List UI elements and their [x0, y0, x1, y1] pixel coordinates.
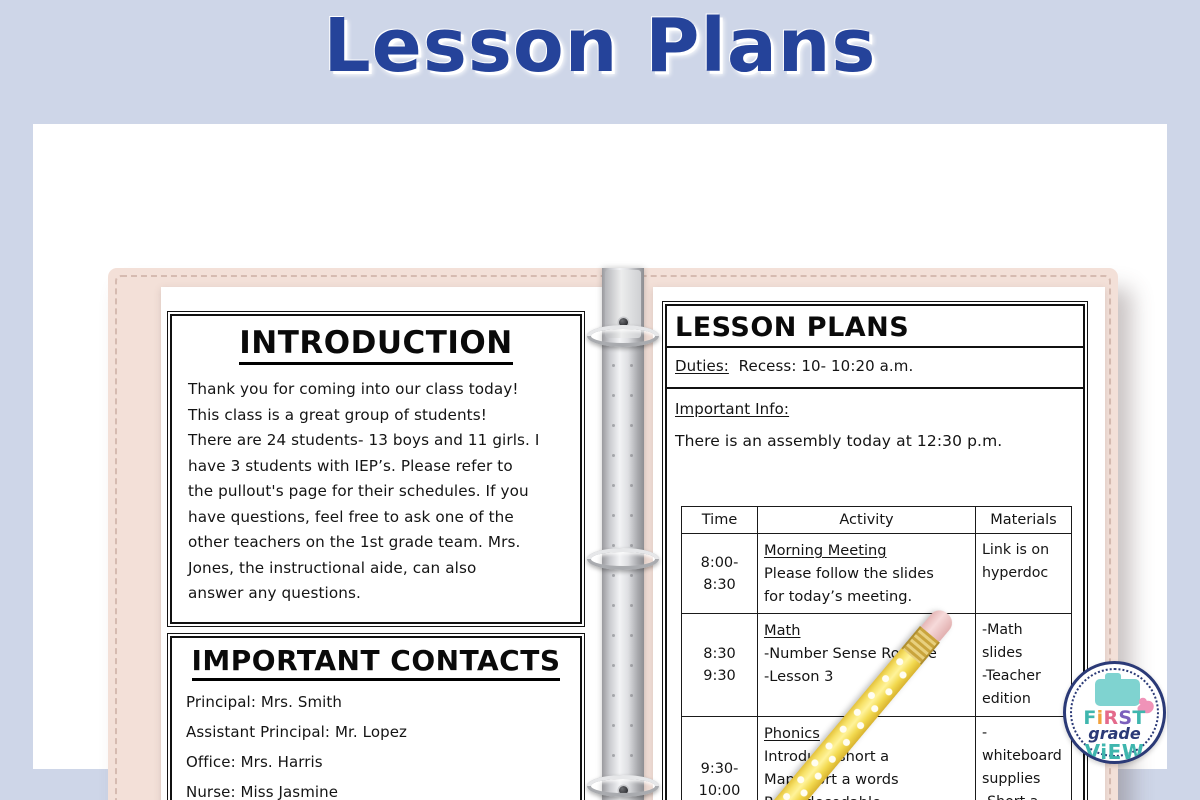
introduction-line: have 3 students with IEP’s. Please refer… [188, 454, 566, 480]
spine-dot [630, 394, 633, 397]
contact-row: Principal: Mrs. Smith [186, 687, 566, 717]
binder-ring-icon [587, 325, 659, 347]
introduction-heading: INTRODUCTION [239, 325, 512, 365]
column-header-activity: Activity [758, 507, 976, 534]
spine-dot [630, 514, 633, 517]
spine-dot [630, 364, 633, 367]
spine-dot [612, 664, 615, 667]
spine-dot [612, 694, 615, 697]
lesson-plans-panel: LESSON PLANS Duties: Recess: 10- 10:20 a… [665, 304, 1085, 800]
spine-dot [612, 424, 615, 427]
binder-ring-icon [587, 548, 659, 570]
introduction-body: Thank you for coming into our class toda… [172, 365, 580, 607]
materials-line: Link is on [982, 539, 1065, 562]
binder-ring-icon [587, 775, 659, 797]
contact-label: Nurse: [186, 783, 236, 800]
spine-dot [630, 634, 633, 637]
time-line: 8:30 [688, 574, 751, 596]
important-contacts-heading: IMPORTANT CONTACTS [192, 644, 561, 681]
introduction-line: Jones, the instructional aide, can also [188, 556, 566, 582]
spine-dot [612, 574, 615, 577]
spine-dot [630, 484, 633, 487]
contact-label: Office: [186, 753, 236, 771]
spine-dot [612, 724, 615, 727]
contact-label: Assistant Principal: [186, 723, 330, 741]
cell-time: 9:30- 10:00 [682, 717, 758, 800]
table-row: 8:30 9:30 Math -Number Sense Routine -Le… [682, 614, 1072, 717]
activity-line: for today’s meeting. [764, 585, 969, 608]
activity-line: Please follow the slides [764, 562, 969, 585]
contacts-heading-wrap: IMPORTANT CONTACTS [172, 644, 580, 681]
binder-left-page: INTRODUCTION Thank you for coming into o… [161, 287, 613, 800]
time-line: 9:30- [688, 758, 751, 780]
title-bar: Lesson Plans [0, 8, 1200, 86]
spine-dot [630, 694, 633, 697]
important-info-block: Important Info: There is an assembly tod… [667, 389, 1083, 455]
activity-line: Read decodable [764, 791, 969, 800]
cell-materials: Link is on hyperdoc [976, 534, 1072, 614]
introduction-line: This class is a great group of students! [188, 403, 566, 429]
activity-line: Introduce short a [764, 745, 969, 768]
spine-dot [630, 454, 633, 457]
binder-spine [602, 268, 644, 800]
contact-row: Assistant Principal: Mr. Lopez [186, 717, 566, 747]
spine-dot [630, 754, 633, 757]
cell-activity: Math -Number Sense Routine -Lesson 3 [758, 614, 976, 717]
contact-value: Mrs. Harris [241, 753, 323, 771]
introduction-line: have questions, feel free to ask one of … [188, 505, 566, 531]
lesson-plans-heading-wrap: LESSON PLANS [667, 306, 1083, 348]
spine-dot [630, 424, 633, 427]
slide-canvas: Lesson Plans INTRODUCTION Thank you for … [0, 0, 1200, 800]
cell-time: 8:30 9:30 [682, 614, 758, 717]
important-contacts-panel: IMPORTANT CONTACTS Principal: Mrs. Smith… [170, 636, 582, 800]
time-line: 10:00 [688, 780, 751, 800]
duties-label: Duties: [675, 357, 729, 375]
spine-dot [630, 724, 633, 727]
slide-white-area: INTRODUCTION Thank you for coming into o… [33, 124, 1167, 769]
binder: INTRODUCTION Thank you for coming into o… [108, 268, 1118, 800]
time-line: 8:30 [688, 643, 751, 665]
spine-dot [612, 364, 615, 367]
materials-line: slides [982, 642, 1065, 665]
materials-line: supplies [982, 768, 1065, 791]
duties-row: Duties: Recess: 10- 10:20 a.m. [667, 348, 1083, 389]
logo-line-view: ViEW [1066, 740, 1163, 764]
materials-line: hyperdoc [982, 562, 1065, 585]
activity-line: Map short a words [764, 768, 969, 791]
introduction-line: other teachers on the 1st grade team. Mr… [188, 530, 566, 556]
materials-line: edition [982, 688, 1065, 711]
spine-dot [612, 754, 615, 757]
important-info-label: Important Info: [675, 397, 1075, 423]
contact-value: Mrs. Smith [261, 693, 342, 711]
materials-line: -Math [982, 619, 1065, 642]
materials-line: -whiteboard [982, 722, 1065, 768]
spine-dot [612, 544, 615, 547]
schedule-header-row: Time Activity Materials [682, 507, 1072, 534]
contact-label: Principal: [186, 693, 256, 711]
contact-value: Miss Jasmine [240, 783, 338, 800]
schedule-table: Time Activity Materials 8:00- 8:30 [681, 506, 1072, 800]
cell-time: 8:00- 8:30 [682, 534, 758, 614]
introduction-panel: INTRODUCTION Thank you for coming into o… [170, 314, 582, 624]
cell-materials: -whiteboard supplies -Short a books [976, 717, 1072, 800]
activity-title: Morning Meeting [764, 539, 969, 562]
cell-materials: -Math slides -Teacher edition [976, 614, 1072, 717]
column-header-time: Time [682, 507, 758, 534]
spine-dot [630, 574, 633, 577]
spine-dot [612, 604, 615, 607]
spine-dot [612, 514, 615, 517]
materials-line: -Short a [982, 791, 1065, 800]
activity-title: Phonics [764, 722, 969, 745]
table-row: 8:00- 8:30 Morning Meeting Please follow… [682, 534, 1072, 614]
introduction-line: the pullout's page for their schedules. … [188, 479, 566, 505]
spine-dot [612, 634, 615, 637]
spine-dot [630, 604, 633, 607]
activity-line: -Number Sense Routine [764, 642, 969, 665]
activity-title: Math [764, 619, 969, 642]
activity-line: -Lesson 3 [764, 665, 969, 688]
spine-dot [630, 664, 633, 667]
first-grade-view-logo: FiRST grade ViEW [1063, 661, 1166, 764]
time-line: 9:30 [688, 665, 751, 687]
introduction-line: There are 24 students- 13 boys and 11 gi… [188, 428, 566, 454]
contact-value: Mr. Lopez [335, 723, 407, 741]
spine-dot [630, 544, 633, 547]
column-header-materials: Materials [976, 507, 1072, 534]
spine-dot [612, 484, 615, 487]
binder-right-page: LESSON PLANS Duties: Recess: 10- 10:20 a… [653, 287, 1105, 800]
cell-activity: Morning Meeting Please follow the slides… [758, 534, 976, 614]
spine-dot [612, 394, 615, 397]
duties-value: Recess: 10- 10:20 a.m. [739, 357, 914, 375]
table-row: 9:30- 10:00 Phonics Introduce short a Ma… [682, 717, 1072, 800]
contact-row: Office: Mrs. Harris [186, 747, 566, 777]
introduction-line: answer any questions. [188, 581, 566, 607]
spine-dot [612, 454, 615, 457]
cell-activity: Phonics Introduce short a Map short a wo… [758, 717, 976, 800]
time-line: 8:00- [688, 552, 751, 574]
camera-icon [1095, 679, 1140, 706]
introduction-line: Thank you for coming into our class toda… [188, 377, 566, 403]
contacts-list: Principal: Mrs. Smith Assistant Principa… [172, 681, 580, 800]
introduction-heading-wrap: INTRODUCTION [172, 325, 580, 365]
page-title: Lesson Plans [324, 8, 877, 86]
important-info-text: There is an assembly today at 12:30 p.m. [675, 429, 1075, 455]
lesson-plans-heading: LESSON PLANS [675, 312, 909, 343]
contact-row: Nurse: Miss Jasmine [186, 777, 566, 800]
materials-line: -Teacher [982, 665, 1065, 688]
